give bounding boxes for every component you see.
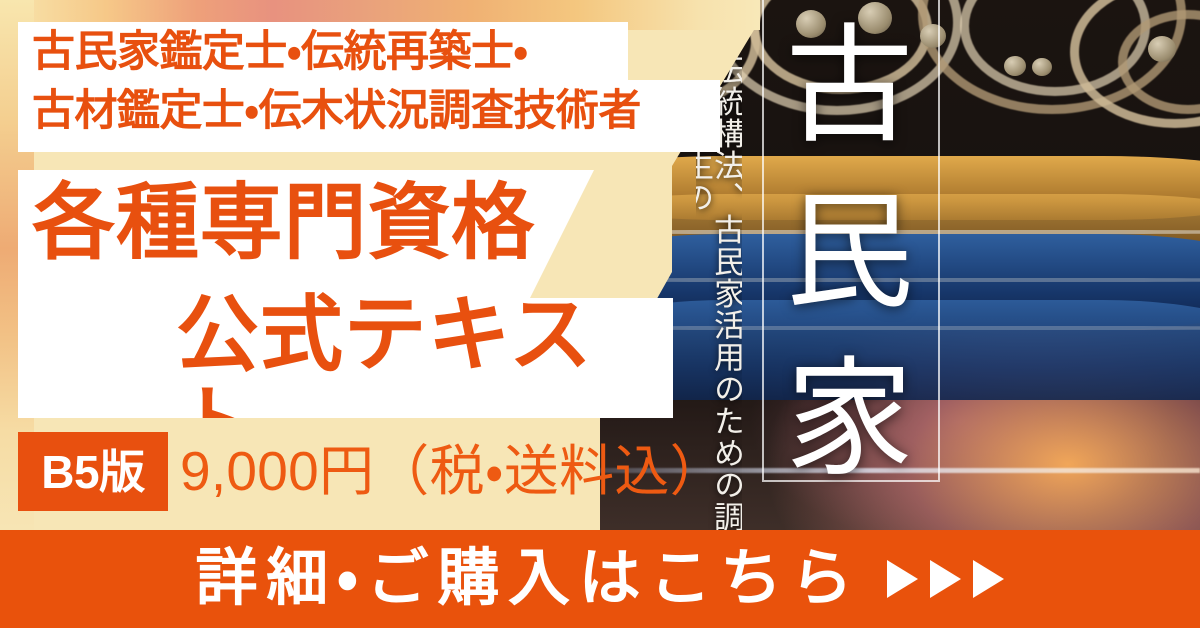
qualifications-heading: 古民家鑑定士・伝統再築士・ 古材鑑定士・伝木状況調査技術者 [32, 23, 722, 141]
cover-main-title: 古 民 家 [768, 4, 932, 503]
format-badge-label: B5版 [41, 449, 144, 495]
chevron-right-icon [973, 560, 1004, 598]
cta-arrows [887, 560, 1004, 598]
cta-label: 詳細・ご購入はこちら [196, 548, 862, 610]
price-text: 9,000円（税・送料込） [180, 431, 725, 511]
headline-line-1: 各種専門資格 [32, 178, 535, 268]
format-badge: B5版 [18, 432, 168, 511]
cta-bar[interactable]: 詳細・ご購入はこちら [0, 530, 1200, 628]
chevron-right-icon [887, 560, 918, 598]
promo-banner[interactable]: 古 民 家 伝統構法、古民家活用のための調査と再生の 古民家鑑定士・伝統再築士・… [0, 0, 1200, 628]
qualifications-panel: 古民家鑑定士・伝統再築士・ 古材鑑定士・伝木状況調査技術者 [18, 22, 720, 152]
chevron-right-icon [930, 560, 961, 598]
